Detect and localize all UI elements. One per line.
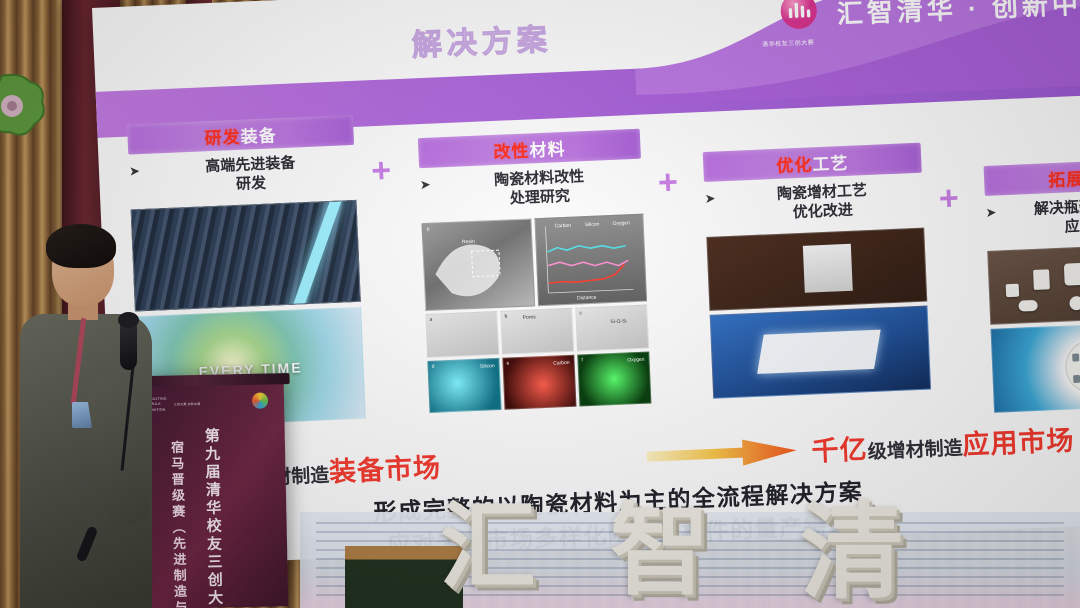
figure-bottom-row: d Silicon e Carbon f Oxygen: [427, 351, 651, 412]
bullet-line-1: 解决瓶颈问题拓展: [1002, 194, 1080, 221]
market-left-big: 装备市场: [328, 453, 441, 488]
plus-separator-3: +: [938, 181, 959, 216]
image-sem-micrograph: b Resin: [421, 218, 534, 311]
column-bullet: ➤ 高端先进装备 研发: [129, 152, 356, 199]
column-application-expansion: 拓展 应用 ➤ 解决瓶颈问题拓展 应用市场: [984, 157, 1080, 412]
foam-letters-display: 汇 智 清: [380, 488, 1080, 608]
market-right-big-1: 千亿: [811, 434, 868, 466]
column-material-modification: 改性 材料 ➤ 陶瓷材料改性 处理研究 b Resin: [418, 129, 652, 413]
column-header-white: 装备: [240, 121, 277, 148]
column-header-white: 材料: [529, 134, 566, 161]
column-bullet: ➤ 解决瓶颈问题拓展 应用市场: [985, 194, 1080, 240]
image-ceramic-parts-array: [987, 242, 1080, 324]
image-eds-map-silicon: d Silicon: [427, 357, 501, 412]
foam-letter: 清: [800, 467, 904, 608]
image-printer-platform: [710, 305, 931, 398]
market-right-label: 千亿级增材制造应用市场: [811, 418, 1075, 468]
image-eds-map-pores: b Pores: [500, 307, 574, 354]
column-header: 拓展 应用: [984, 157, 1080, 196]
figure-top-row: b Resin: [421, 213, 647, 310]
podium-colorful-logo-icon: [252, 393, 268, 409]
figure-mid-row: a b Pores c Si-O-Si: [425, 304, 649, 357]
competition-logo-icon: [772, 0, 826, 43]
image-eds-map-gray: a: [425, 310, 499, 357]
image-eds-line-scan: Carbon Silicon Oxygen Distance: [534, 213, 647, 306]
column-header-red: 改性: [493, 136, 530, 163]
image-eds-map-labels: c Si-O-Si: [575, 304, 649, 351]
plus-separator-1: +: [371, 153, 392, 188]
slide-title: 解决方案: [411, 14, 553, 64]
column-header-red: 优化: [776, 150, 813, 177]
market-right-small: 级增材制造: [867, 438, 963, 463]
column-process-optimization: 优化 工艺 ➤ 陶瓷增材工艺 优化改进: [703, 143, 931, 399]
column-header: 改性 材料: [418, 129, 641, 168]
bullet-arrow-icon: ➤: [985, 203, 997, 223]
gradient-right-arrow-icon: [646, 436, 797, 470]
bullet-arrow-icon: ➤: [129, 161, 141, 181]
column-header: 优化 工艺: [703, 143, 922, 182]
speaker-presenter: [16, 226, 172, 608]
bullet-arrow-icon: ➤: [419, 175, 431, 195]
column-bullet: ➤ 陶瓷增材工艺 优化改进: [704, 180, 923, 227]
column-header-red: 拓展: [1048, 164, 1080, 191]
column-header-white: 工艺: [812, 148, 849, 175]
market-right-big-2: 应用市场: [962, 425, 1075, 460]
image-printing-chamber: [706, 227, 927, 310]
green-wall-ornament-icon: [0, 72, 50, 144]
microphone-head: [118, 312, 139, 328]
sponsor-logo-cn: 三创大赛 创新中国: [174, 402, 201, 407]
image-ceramic-disc-in-hand: [991, 320, 1080, 412]
foam-letter: 汇: [440, 469, 536, 608]
foam-letter: 智: [610, 469, 710, 608]
column-bullet: ➤ 陶瓷材料改性 处理研究: [419, 166, 642, 213]
bullet-arrow-icon: ➤: [704, 189, 716, 209]
image-eds-map-carbon: e Carbon: [502, 354, 576, 409]
plus-separator-2: +: [657, 165, 678, 200]
photograph-scene: 解决方案 清华校友三创大赛 汇智清华 · 创新中国 研发 装备: [0, 0, 1080, 608]
podium-title-main: 第九届清华校友三创大赛: [201, 427, 226, 608]
image-eds-map-oxygen: f Oxygen: [577, 351, 651, 406]
column-header-red: 研发: [204, 122, 241, 149]
speaker-hair: [46, 224, 116, 268]
